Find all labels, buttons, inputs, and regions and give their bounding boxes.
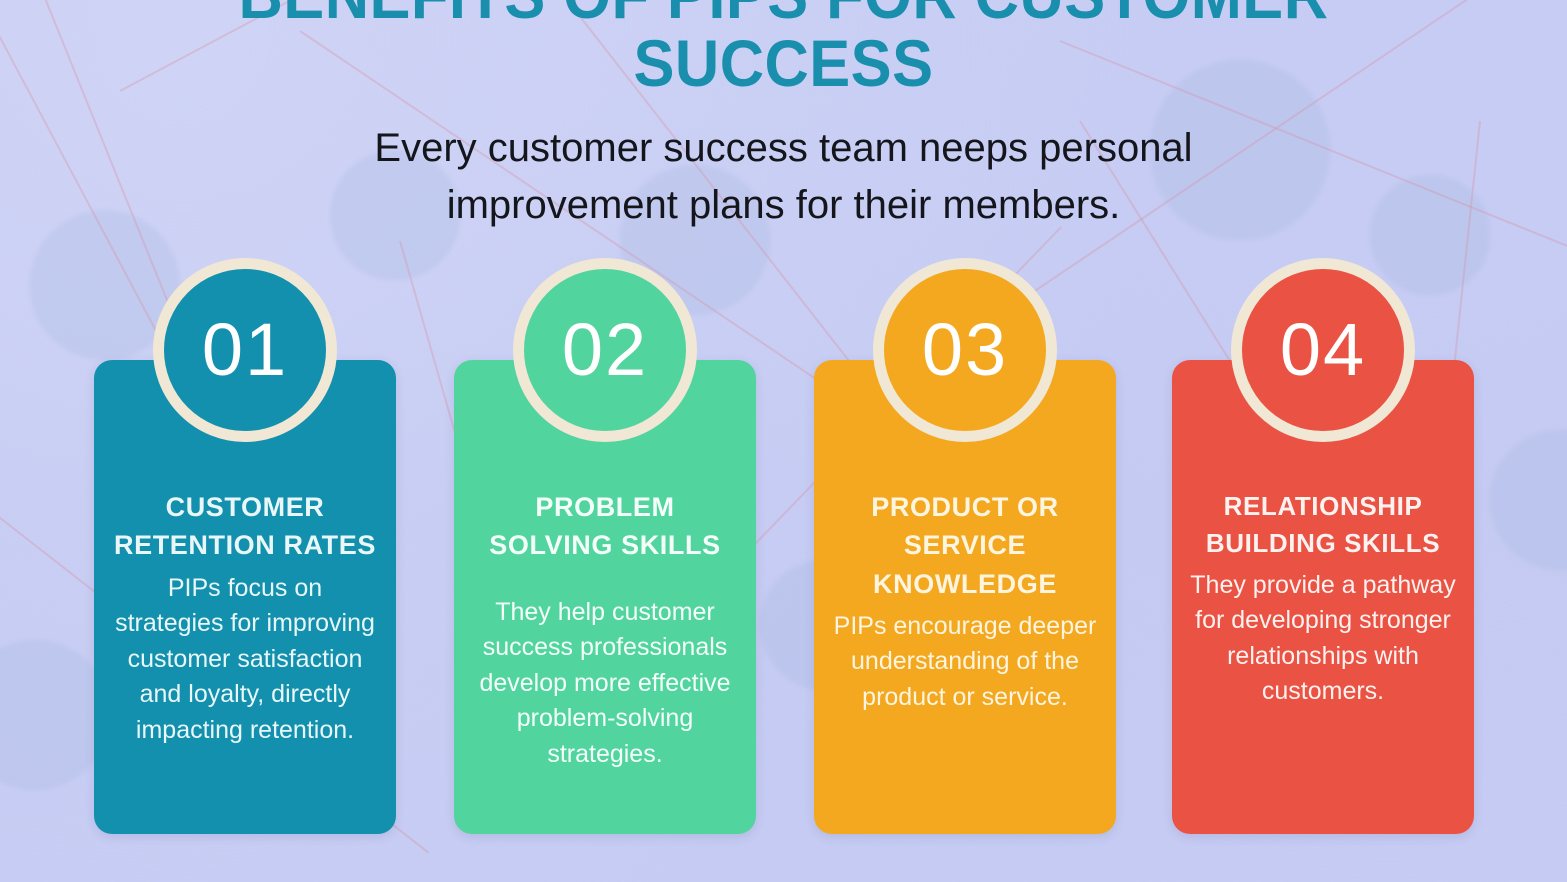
card-title: PROBLEM SOLVING SKILLS bbox=[472, 488, 738, 565]
card-title: RELATIONSHIP BUILDING SKILLS bbox=[1190, 488, 1456, 562]
card-title: CUSTOMER RETENTION RATES bbox=[112, 488, 378, 565]
benefit-cards-row: 01 CUSTOMER RETENTION RATES PIPs focus o… bbox=[94, 258, 1474, 858]
step-badge-01: 01 bbox=[153, 258, 337, 442]
page-subtitle: Every customer success team neeps person… bbox=[344, 120, 1224, 234]
step-badge-02: 02 bbox=[513, 258, 697, 442]
card-body: PIPs focus on strategies for improving c… bbox=[112, 571, 378, 749]
card-body: They provide a pathway for developing st… bbox=[1190, 568, 1456, 710]
benefit-card-02[interactable]: 02 PROBLEM SOLVING SKILLS They help cust… bbox=[454, 360, 756, 834]
benefit-card-04[interactable]: 04 RELATIONSHIP BUILDING SKILLS They pro… bbox=[1172, 360, 1474, 834]
step-number: 04 bbox=[1280, 313, 1366, 387]
step-number: 03 bbox=[922, 313, 1008, 387]
card-body: They help customer success professionals… bbox=[472, 595, 738, 773]
step-badge-04: 04 bbox=[1231, 258, 1415, 442]
step-number: 02 bbox=[562, 313, 648, 387]
step-number: 01 bbox=[202, 313, 288, 387]
header: BENEFITS OF PIPS FOR CUSTOMER SUCCESS Ev… bbox=[0, 0, 1567, 234]
card-title: PRODUCT OR SERVICE KNOWLEDGE bbox=[832, 488, 1098, 603]
benefit-card-01[interactable]: 01 CUSTOMER RETENTION RATES PIPs focus o… bbox=[94, 360, 396, 834]
background-blob bbox=[1490, 430, 1567, 570]
card-body: PIPs encourage deeper understanding of t… bbox=[832, 609, 1098, 716]
benefit-card-03[interactable]: 03 PRODUCT OR SERVICE KNOWLEDGE PIPs enc… bbox=[814, 360, 1116, 834]
step-badge-03: 03 bbox=[873, 258, 1057, 442]
infographic-slide: BENEFITS OF PIPS FOR CUSTOMER SUCCESS Ev… bbox=[0, 0, 1567, 882]
page-title: BENEFITS OF PIPS FOR CUSTOMER SUCCESS bbox=[55, 0, 1512, 98]
